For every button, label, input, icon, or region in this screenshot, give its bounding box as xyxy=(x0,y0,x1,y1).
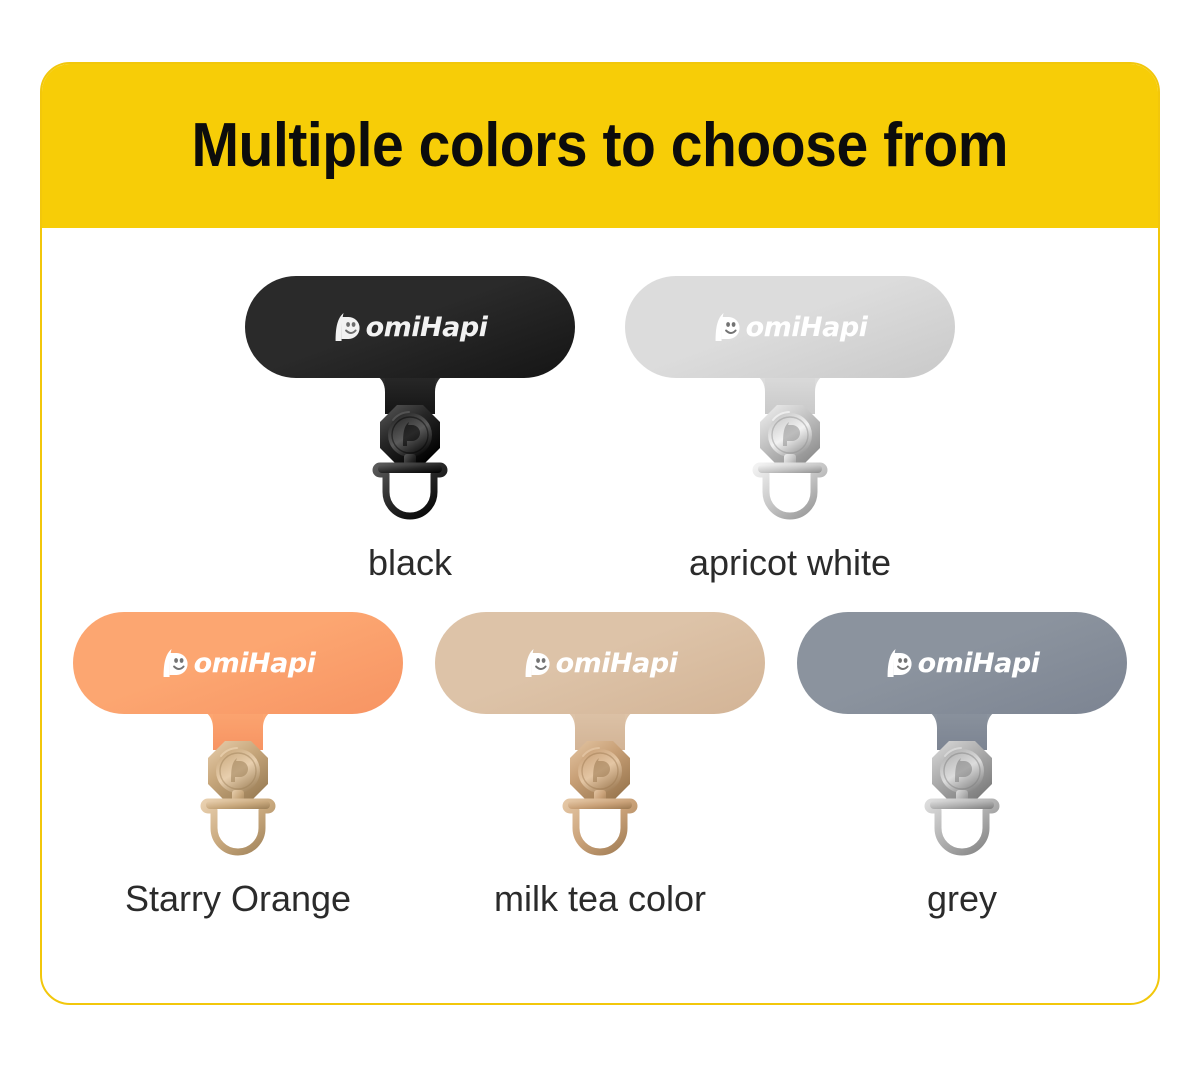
phone-tether-tab[interactable]: omiHapi xyxy=(240,276,580,528)
d-ring-swivel xyxy=(196,790,280,864)
variant-grey[interactable]: omiHapigrey xyxy=(786,612,1138,920)
brand-logo: omiHapi xyxy=(523,647,678,679)
variant-apricot-white[interactable]: omiHapiapricot white xyxy=(614,276,966,584)
brand-logo-text: omiHapi xyxy=(556,650,678,677)
d-ring[interactable] xyxy=(558,790,642,864)
brand-logo: omiHapi xyxy=(713,311,868,343)
smiley-d-icon xyxy=(161,647,191,679)
phone-tether-tab[interactable]: omiHapi xyxy=(430,612,770,864)
phone-tether-tab[interactable]: omiHapi xyxy=(68,612,408,864)
variant-label: grey xyxy=(927,878,997,920)
d-ring-swivel xyxy=(748,454,832,528)
tab-pad: omiHapi xyxy=(625,276,955,378)
brand-logo: omiHapi xyxy=(885,647,1040,679)
variant-row-bottom: omiHapiStarry OrangeomiHapimilk tea colo… xyxy=(42,584,1158,920)
tab-pad: omiHapi xyxy=(797,612,1127,714)
d-ring-swivel xyxy=(368,454,452,528)
smiley-d-icon xyxy=(885,647,915,679)
phone-tether-tab[interactable]: omiHapi xyxy=(620,276,960,528)
d-ring[interactable] xyxy=(748,454,832,528)
tab-pad: omiHapi xyxy=(245,276,575,378)
d-ring-swivel xyxy=(558,790,642,864)
brand-logo-text: omiHapi xyxy=(746,314,868,341)
phone-tether-tab[interactable]: omiHapi xyxy=(792,612,1132,864)
variant-milk-tea-color[interactable]: omiHapimilk tea color xyxy=(424,612,776,920)
d-ring-swivel xyxy=(920,790,1004,864)
brand-logo-text: omiHapi xyxy=(366,314,488,341)
header-banner: Multiple colors to choose from xyxy=(42,64,1158,228)
product-card: Multiple colors to choose from omiHapibl… xyxy=(40,62,1160,1005)
variant-row-top: omiHapiblackomiHapiapricot white xyxy=(42,228,1158,584)
d-ring[interactable] xyxy=(920,790,1004,864)
tab-pad: omiHapi xyxy=(435,612,765,714)
page-title: Multiple colors to choose from xyxy=(192,115,1009,177)
smiley-d-icon xyxy=(333,311,363,343)
variant-label: black xyxy=(368,542,452,584)
brand-logo: omiHapi xyxy=(161,647,316,679)
brand-logo-text: omiHapi xyxy=(918,650,1040,677)
smiley-d-icon xyxy=(523,647,553,679)
brand-logo-text: omiHapi xyxy=(194,650,316,677)
tab-pad: omiHapi xyxy=(73,612,403,714)
d-ring[interactable] xyxy=(196,790,280,864)
brand-logo: omiHapi xyxy=(333,311,488,343)
variant-grid: omiHapiblackomiHapiapricot white omiHapi… xyxy=(42,228,1158,1005)
variant-black[interactable]: omiHapiblack xyxy=(234,276,586,584)
variant-starry-orange[interactable]: omiHapiStarry Orange xyxy=(62,612,414,920)
variant-label: Starry Orange xyxy=(125,878,351,920)
smiley-d-icon xyxy=(713,311,743,343)
variant-label: milk tea color xyxy=(494,878,706,920)
d-ring[interactable] xyxy=(368,454,452,528)
variant-label: apricot white xyxy=(689,542,891,584)
product-color-options-page: Multiple colors to choose from omiHapibl… xyxy=(0,0,1200,1065)
